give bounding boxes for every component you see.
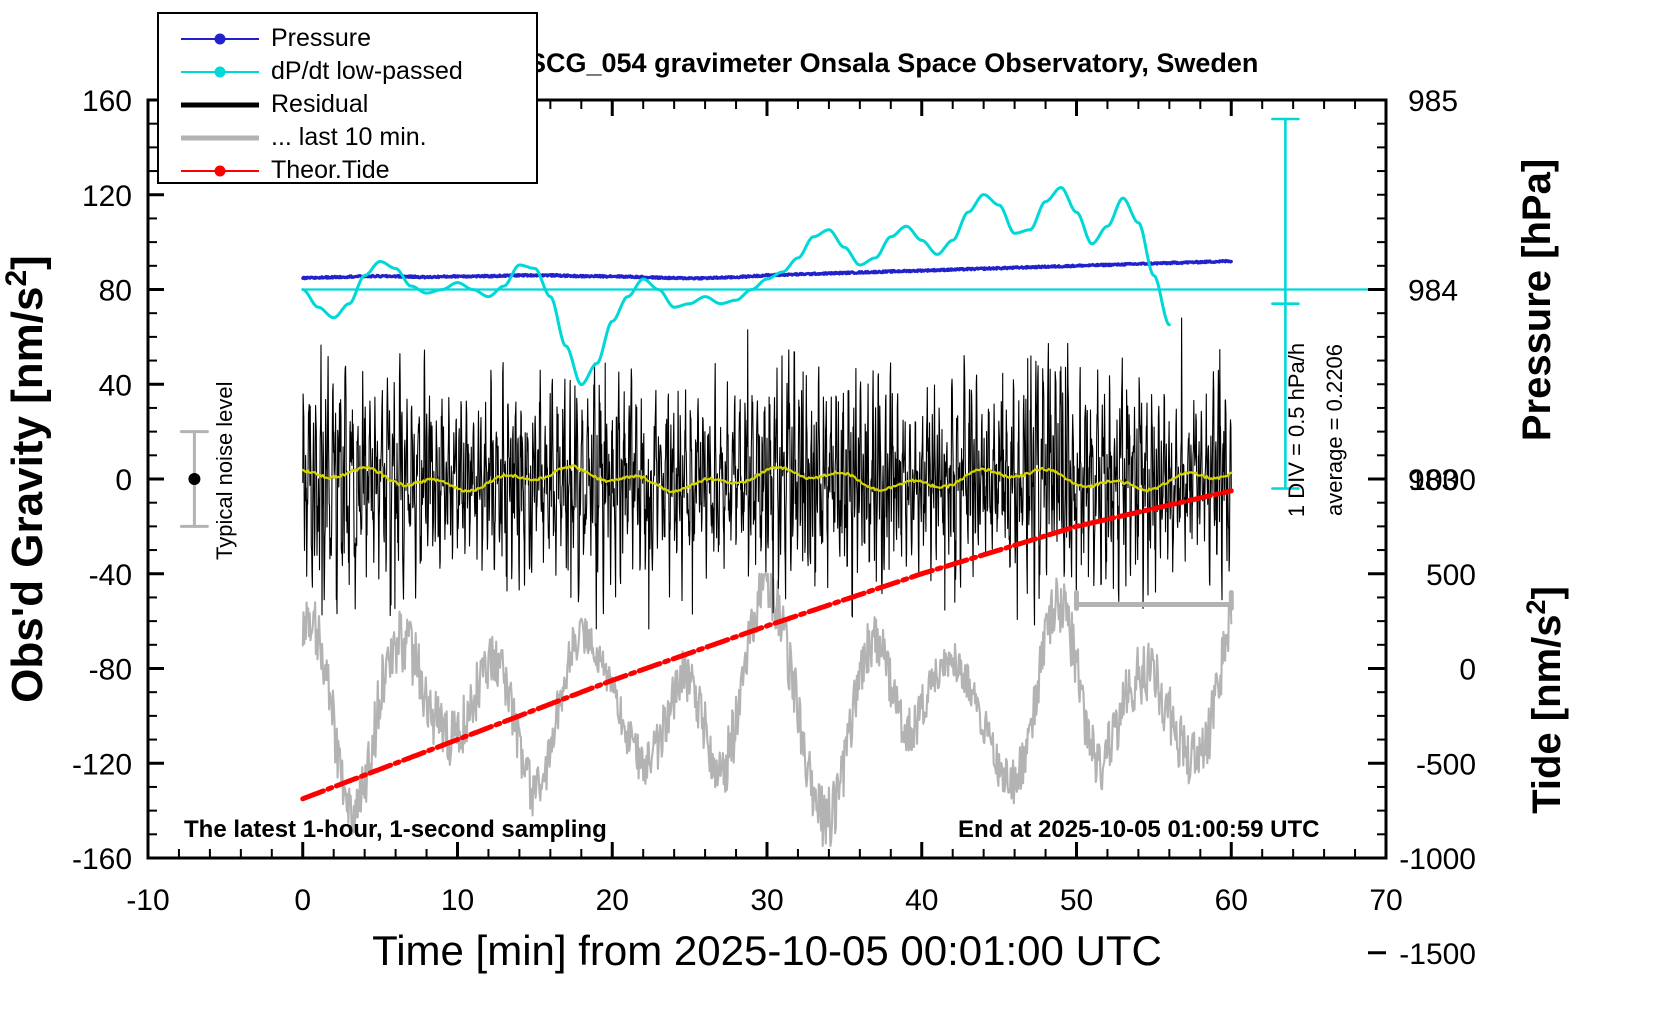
x-tick-label: 20 — [596, 884, 629, 917]
legend-swatch-icon — [181, 97, 259, 113]
y-left-tick-label: 160 — [82, 85, 132, 118]
noise-bar-center-dot — [188, 473, 200, 485]
legend-item-pressure[interactable]: Pressure — [181, 22, 536, 55]
dpdt-scale-label-average: average = 0.2206 — [1322, 344, 1347, 516]
noise-level-label: Typical noise level — [212, 381, 237, 560]
y-right-pressure-axis-title: Pressure [hPa] — [1515, 159, 1559, 441]
y-right-tide-tick-label: -500 — [1416, 748, 1476, 781]
legend-label: Residual — [259, 90, 368, 119]
y-left-tick-label: -80 — [89, 654, 132, 687]
y-right-tide-tick-label: 0 — [1459, 654, 1476, 687]
legend-swatch-icon — [181, 31, 259, 47]
legend-label: ... last 10 min. — [259, 123, 427, 152]
legend-item-theor-tide[interactable]: Theor.Tide — [181, 154, 536, 187]
y-left-tick-label: 40 — [99, 369, 132, 402]
y-right-tide-axis-title: Tide [nm/s2] — [1521, 586, 1569, 814]
x-tick-label: 10 — [441, 884, 474, 917]
y-right-tide-tick-label: -1500 — [1399, 938, 1476, 971]
x-tick-label: -10 — [126, 884, 169, 917]
legend-swatch-icon — [181, 64, 259, 80]
y-right-tide-tick-label: 500 — [1426, 559, 1476, 592]
x-tick-label: 50 — [1060, 884, 1093, 917]
x-tick-label: 0 — [294, 884, 311, 917]
y-left-tick-label: 0 — [115, 464, 132, 497]
y-right-pressure-tick-label: 984 — [1408, 275, 1458, 308]
x-tick-label: 40 — [905, 884, 938, 917]
legend-label: Pressure — [259, 24, 371, 53]
y-right-tide-tick-label: -1000 — [1399, 843, 1476, 876]
legend: PressuredP/dt low-passedResidual... last… — [157, 12, 538, 184]
legend-label: Theor.Tide — [259, 156, 390, 185]
legend-item-dp-dt-low-passed[interactable]: dP/dt low-passed — [181, 55, 536, 88]
footer-right-note: End at 2025-10-05 01:00:59 UTC — [958, 816, 1320, 844]
x-tick-label: 60 — [1215, 884, 1248, 917]
legend-swatch-icon — [181, 163, 259, 179]
legend-label: dP/dt low-passed — [259, 57, 463, 86]
x-tick-label: 70 — [1369, 884, 1402, 917]
legend-swatch-icon — [181, 130, 259, 146]
footer-left-note: The latest 1-hour, 1-second sampling — [184, 816, 607, 844]
x-axis-title: Time [min] from 2025-10-05 00:01:00 UTC — [372, 927, 1162, 974]
gravimeter-plot-page: -1001020304050607016012080400-40-80-120-… — [0, 0, 1660, 1020]
y-right-tide-tick-label: 1000 — [1409, 464, 1476, 497]
y-left-tick-label: 80 — [99, 275, 132, 308]
y-left-tick-label: 120 — [82, 180, 132, 213]
y-left-tick-label: -120 — [72, 748, 132, 781]
y-left-axis-title: Obs'd Gravity [nm/s2] — [0, 255, 52, 703]
y-right-pressure-tick-label: 985 — [1408, 85, 1458, 118]
x-tick-label: 30 — [750, 884, 783, 917]
legend-item-last-10-min[interactable]: ... last 10 min. — [181, 121, 536, 154]
chart-title: SCG_054 gravimeter Onsala Space Observat… — [528, 48, 1258, 79]
dpdt-scale-label-div: 1 DIV = 0.5 hPa/h — [1284, 343, 1309, 517]
y-left-tick-label: -160 — [72, 843, 132, 876]
legend-item-residual[interactable]: Residual — [181, 88, 536, 121]
y-left-tick-label: -40 — [89, 559, 132, 592]
